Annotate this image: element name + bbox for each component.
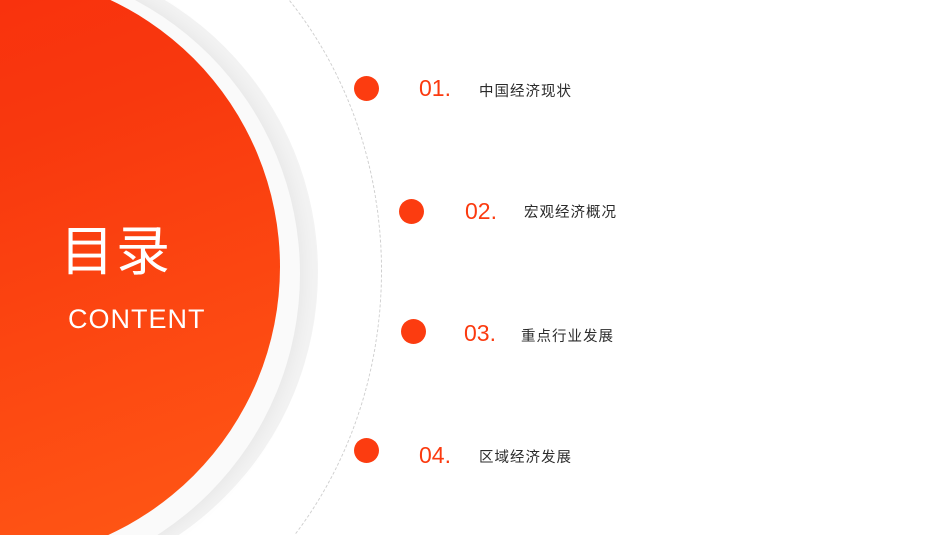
toc-item-2[interactable]: 宏观经济概况 (524, 203, 617, 223)
item-number-1: 01. (419, 75, 445, 101)
bullet-dot-2 (399, 199, 424, 224)
bullet-dot-3 (401, 319, 426, 344)
item-number-4: 04. (419, 442, 445, 468)
toc-item-4[interactable]: 区域经济发展 (479, 448, 572, 468)
toc-item-3[interactable]: 重点行业发展 (521, 327, 614, 347)
slide-canvas: 目录 CONTENT 01. 中国经济现状 02. 宏观经济概况 03. 重点行… (0, 0, 950, 535)
title-block: 目录 CONTENT (60, 222, 290, 282)
bullet-dot-1 (354, 76, 379, 101)
page-title-en: CONTENT (68, 304, 206, 335)
item-number-2: 02. (465, 198, 491, 224)
page-title-cn: 目录 (60, 222, 290, 282)
bullet-dot-4 (354, 438, 379, 463)
toc-item-1[interactable]: 中国经济现状 (479, 82, 572, 102)
item-number-3: 03. (464, 320, 490, 346)
